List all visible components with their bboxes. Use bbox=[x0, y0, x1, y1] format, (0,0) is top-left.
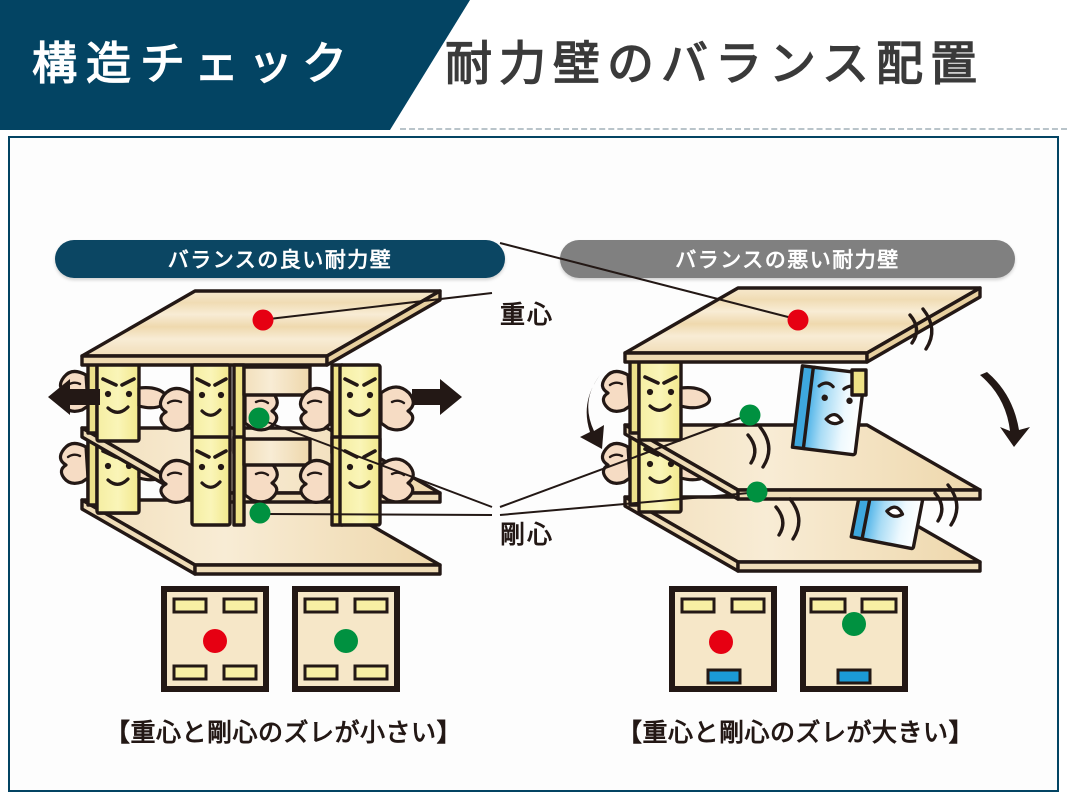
arrow-curve-right-down-icon bbox=[980, 372, 1030, 447]
plan-dot-center-of-rigidity bbox=[842, 612, 866, 636]
section-title-good-label: バランスの良い耐力壁 bbox=[168, 244, 393, 274]
good-floor-plans bbox=[160, 585, 410, 695]
header-right-title: 耐力壁のバランス配置 bbox=[445, 32, 984, 96]
header: 構造チェック 耐力壁のバランス配置 bbox=[0, 0, 1067, 130]
poster-root: 構造チェック 耐力壁のバランス配置 バランスの良い耐力壁 バランスの悪い耐力壁 bbox=[0, 0, 1067, 800]
section-title-bad: バランスの悪い耐力壁 bbox=[560, 240, 1015, 278]
plan-dot-center-of-rigidity bbox=[334, 629, 358, 653]
dot-center-of-rigidity-lower bbox=[747, 482, 768, 503]
plan-dot-center-of-gravity bbox=[709, 630, 733, 654]
good-plan-gravity bbox=[164, 589, 266, 689]
arrow-right-icon bbox=[412, 379, 462, 415]
caption-bad: 【重心と剛心のズレが大きい】 bbox=[617, 713, 967, 749]
bad-plan-rigidity bbox=[803, 589, 905, 689]
header-left-title: 構造チェック bbox=[32, 34, 356, 94]
dot-center-of-gravity bbox=[253, 310, 274, 331]
good-balance-diagram bbox=[40, 275, 520, 575]
bad-floor-plans bbox=[668, 585, 918, 695]
label-center-of-rigidity: 剛心 bbox=[500, 515, 554, 551]
section-title-good: バランスの良い耐力壁 bbox=[55, 240, 505, 278]
dot-center-of-rigidity-upper bbox=[740, 405, 761, 426]
dot-center-of-rigidity-upper bbox=[249, 408, 270, 429]
dot-center-of-gravity bbox=[788, 310, 809, 331]
leader-rigidity-1 bbox=[269, 514, 492, 515]
bad-wall-stub-2 bbox=[852, 370, 866, 395]
bad-plan-gravity bbox=[672, 589, 774, 689]
label-center-of-gravity: 重心 bbox=[500, 295, 554, 331]
good-plan-rigidity bbox=[295, 589, 397, 689]
arrow-curve-left-down-icon bbox=[580, 375, 604, 449]
caption-good: 【重心と剛心のズレが小さい】 bbox=[105, 713, 455, 749]
section-title-bad-label: バランスの悪い耐力壁 bbox=[675, 244, 900, 274]
dot-center-of-rigidity-lower bbox=[250, 503, 271, 524]
plan-dot-center-of-gravity bbox=[203, 629, 227, 653]
header-dashed-divider bbox=[400, 128, 1067, 130]
bad-balance-diagram bbox=[580, 275, 1050, 575]
